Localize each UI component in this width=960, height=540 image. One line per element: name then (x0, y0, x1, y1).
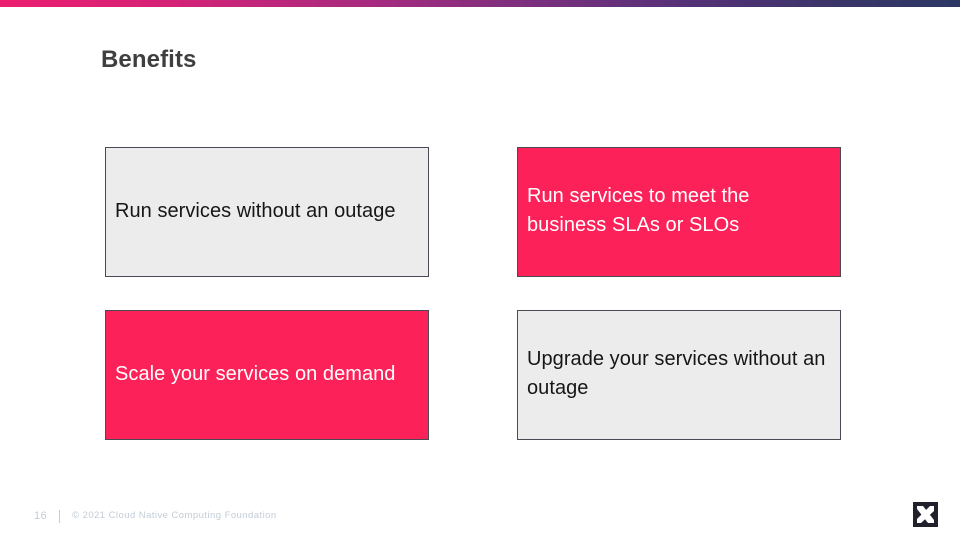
benefit-card-label: Run services to meet the business SLAs o… (527, 182, 831, 240)
slide-footer: 16 © 2021 Cloud Native Computing Foundat… (34, 508, 277, 524)
footer-page-number: 16 (34, 508, 47, 524)
benefits-grid: Run services without an outage Run servi… (105, 147, 841, 439)
benefit-card-meet-slas-slos[interactable]: Run services to meet the business SLAs o… (517, 147, 841, 277)
cncf-mark-icon (913, 502, 938, 527)
benefit-card-label: Run services without an outage (115, 197, 396, 226)
top-gradient-bar (0, 0, 960, 7)
footer-copyright: © 2021 Cloud Native Computing Foundation (72, 508, 277, 524)
benefit-card-scale-on-demand[interactable]: Scale your services on demand (105, 310, 429, 440)
page-title: Benefits (101, 44, 197, 76)
benefit-card-label: Upgrade your services without an outage (527, 345, 831, 403)
footer-divider (59, 510, 60, 523)
benefit-card-run-services-without-outage[interactable]: Run services without an outage (105, 147, 429, 277)
benefit-card-upgrade-without-outage[interactable]: Upgrade your services without an outage (517, 310, 841, 440)
benefit-card-label: Scale your services on demand (115, 360, 395, 389)
